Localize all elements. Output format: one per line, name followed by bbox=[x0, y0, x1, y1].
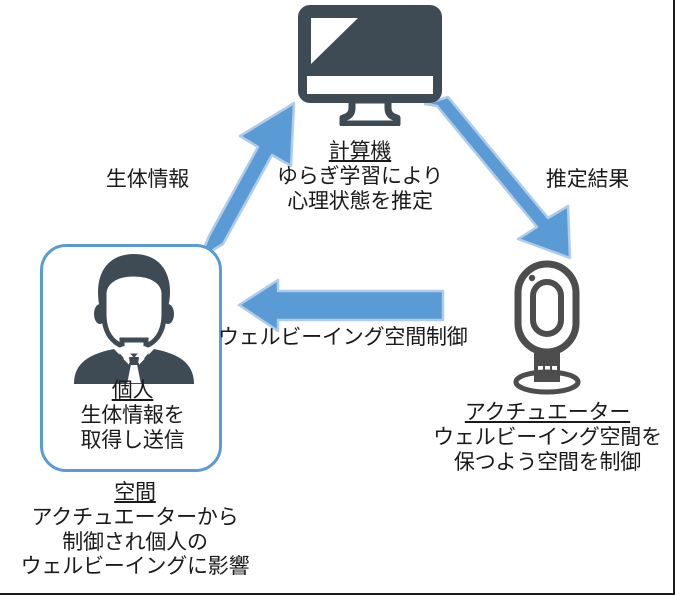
person-title: 個人 bbox=[45, 379, 220, 404]
space-label: 空間 アクチュエーターから 制御され個人の ウェルビーイングに影響 bbox=[0, 481, 270, 580]
arrow-label-biometric-info: 生体情報 bbox=[80, 168, 215, 193]
diagram-canvas: 計算機 ゆらぎ学習により 心理状態を推定 アクチュエーター ウェルビーイング空間… bbox=[0, 0, 675, 595]
person-label: 個人 生体情報を 取得し送信 bbox=[45, 379, 220, 453]
person-desc-line1: 生体情報を bbox=[45, 404, 220, 429]
space-desc-line3: ウェルビーイングに影響 bbox=[0, 555, 270, 580]
computer-desc-line1: ゆらぎ学習により bbox=[245, 165, 475, 190]
space-desc-line1: アクチュエーターから bbox=[0, 506, 270, 531]
computer-desc-line2: 心理状態を推定 bbox=[245, 190, 475, 215]
actuator-title: アクチュエーター bbox=[425, 401, 670, 426]
arrow-label-estimation-result: 推定結果 bbox=[525, 168, 650, 193]
arrow-body-control bbox=[239, 280, 443, 331]
actuator-desc-line2: 保つよう空間を制御 bbox=[425, 451, 670, 476]
businessman-avatar-icon bbox=[72, 252, 196, 384]
actuator-label: アクチュエーター ウェルビーイング空間を 保つよう空間を制御 bbox=[425, 401, 670, 475]
arrow-actuator-to-person bbox=[239, 280, 443, 331]
person-desc-line2: 取得し送信 bbox=[45, 429, 220, 454]
computer-label: 計算機 ゆらぎ学習により 心理状態を推定 bbox=[245, 140, 475, 214]
bladeless-fan-icon bbox=[505, 260, 601, 400]
space-title: 空間 bbox=[0, 481, 270, 506]
desktop-monitor-icon bbox=[296, 4, 444, 126]
space-desc-line2: 制御され個人の bbox=[0, 531, 270, 556]
computer-title: 計算機 bbox=[245, 140, 475, 165]
arrow-label-wellbeing-space-control: ウェルビーイング空間制御 bbox=[218, 326, 518, 351]
actuator-desc-line1: ウェルビーイング空間を bbox=[425, 426, 670, 451]
